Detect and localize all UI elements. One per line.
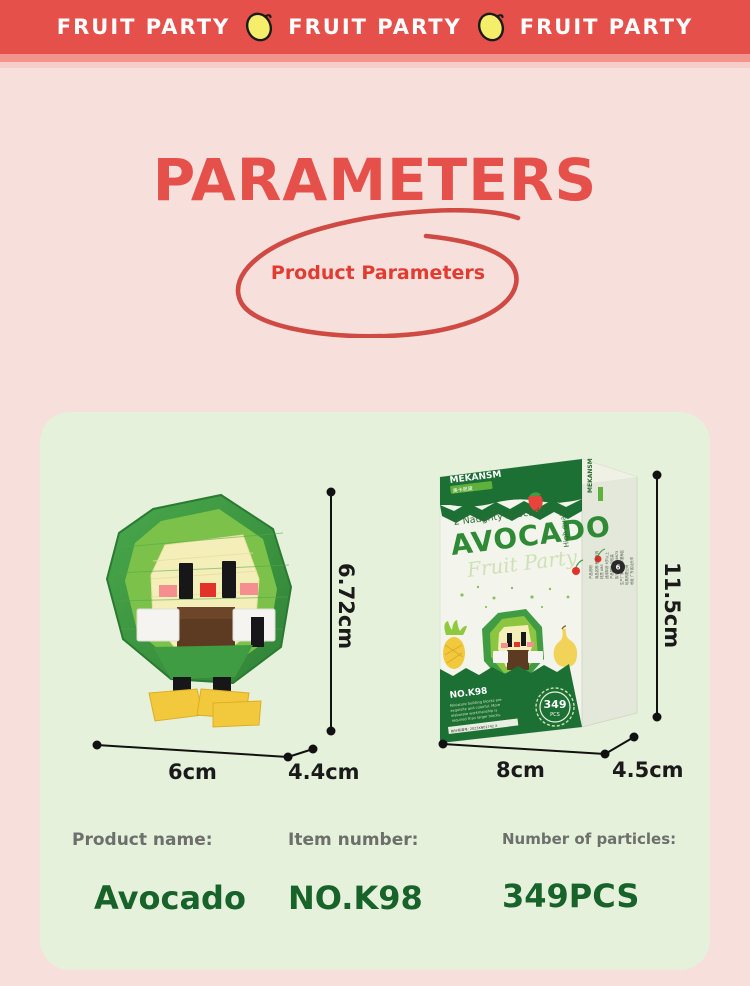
avocado-block-figure [93, 487, 313, 749]
title-section: PARAMETERS Product Parameters [0, 150, 750, 350]
banner-text-1: FRUIT PARTY [57, 15, 231, 39]
svg-text:材质 ABS: 材质 ABS [599, 564, 604, 579]
spec-row: Product name: Avocado Item number: NO.K9… [40, 830, 710, 940]
subtitle: Product Parameters [228, 208, 528, 338]
top-banner: FRUIT PARTY FRUIT PARTY FRUIT PARTY [0, 0, 750, 54]
dimension-label-box-width: 8cm [496, 758, 545, 782]
svg-text:6: 6 [616, 564, 621, 572]
spec-value: NO.K98 [288, 879, 423, 917]
svg-text:地址 广东省汕头市: 地址 广东省汕头市 [629, 556, 634, 585]
spec-value: 349PCS [502, 877, 676, 915]
package-box: MEKANSM 美卡思黛 2 Naughty Avocado AVOCADO F… [432, 455, 647, 755]
banner-text-3: FRUIT PARTY [520, 15, 694, 39]
svg-text:349: 349 [544, 698, 567, 711]
spec-label: Item number: [288, 830, 423, 850]
spec-number-of-particles: Number of particles: 349PCS [502, 830, 676, 915]
svg-text:商品名称 积木玩具: 商品名称 积木玩具 [594, 550, 599, 579]
svg-text:PCS: PCS [550, 712, 560, 718]
dimension-label-figure-depth: 4.4cm [288, 760, 360, 784]
banner-text-2: FRUIT PARTY [288, 15, 462, 39]
spec-label: Number of particles: [502, 830, 676, 848]
banner-strip-light [0, 62, 750, 68]
svg-text:MEKANSM: MEKANSM [587, 458, 594, 493]
dimension-label-box-depth: 4.5cm [612, 758, 684, 782]
page-title: PARAMETERS [0, 150, 750, 210]
spec-label: Product name: [72, 830, 246, 850]
dimension-label-box-height: 11.5cm [660, 562, 684, 648]
banner-strip-dark [0, 54, 750, 62]
spec-product-name: Product name: Avocado [72, 830, 246, 917]
spec-value: Avocado [94, 879, 246, 917]
svg-text:适用年龄 6岁以上: 适用年龄 6岁以上 [604, 551, 609, 579]
dimension-label-figure-height: 6.72cm [334, 563, 358, 649]
dimension-label-figure-width: 6cm [168, 760, 217, 784]
lemon-icon [244, 10, 274, 44]
spec-item-number: Item number: NO.K98 [288, 830, 423, 917]
lemon-icon [476, 10, 506, 44]
svg-text:产品说明: 产品说明 [588, 565, 593, 579]
